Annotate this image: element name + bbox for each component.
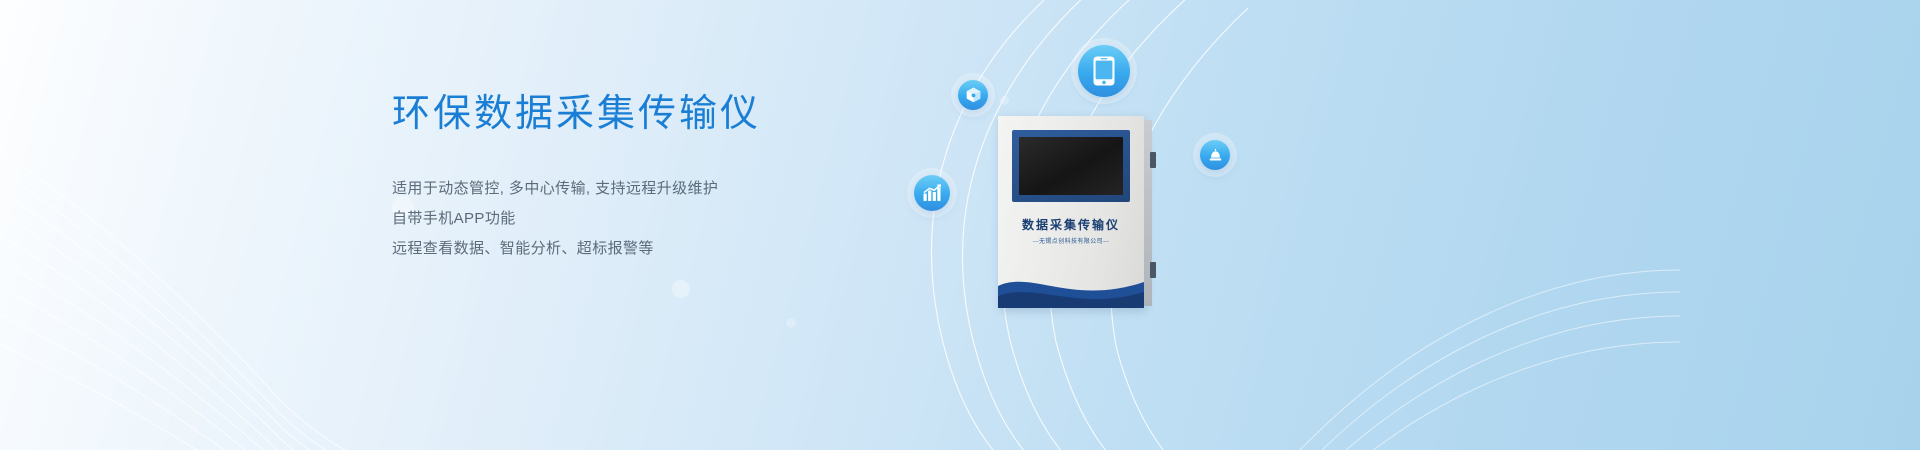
cabinet-wave-graphic bbox=[998, 266, 1144, 308]
device-brand-label: 数据采集传输仪 bbox=[998, 216, 1144, 233]
alarm-siren-icon[interactable] bbox=[1200, 140, 1230, 170]
bar-chart-glyph bbox=[923, 184, 942, 202]
cabinet-hinge-bottom bbox=[1150, 262, 1156, 278]
smartphone-glyph bbox=[1093, 56, 1115, 86]
smartphone-icon[interactable] bbox=[1078, 45, 1130, 97]
alarm-siren-glyph bbox=[1208, 148, 1223, 163]
device-screen bbox=[1019, 137, 1123, 195]
bar-chart-icon[interactable] bbox=[914, 175, 950, 211]
cabinet-side-panel bbox=[1144, 120, 1152, 306]
data-acquisition-cabinet: 数据采集传输仪 —无锡点创科技有限公司— bbox=[998, 116, 1144, 308]
bokeh-dot-3 bbox=[786, 318, 796, 328]
device-company-label: —无锡点创科技有限公司— bbox=[998, 236, 1144, 245]
subtitle-line-3: 远程查看数据、智能分析、超标报警等 bbox=[392, 234, 912, 264]
device-screen-bezel bbox=[1012, 130, 1130, 202]
hero-copy: 环保数据采集传输仪 适用于动态管控, 多中心传输, 支持远程升级维护 自带手机A… bbox=[392, 92, 912, 264]
cube-glyph bbox=[966, 87, 981, 103]
page-title: 环保数据采集传输仪 bbox=[392, 92, 912, 138]
subtitle-line-2: 自带手机APP功能 bbox=[392, 204, 912, 234]
decorative-radiating-arcs bbox=[880, 0, 1500, 450]
cube-icon[interactable] bbox=[958, 80, 988, 110]
subtitle-line-1: 适用于动态管控, 多中心传输, 支持远程升级维护 bbox=[392, 174, 912, 204]
bokeh-dot-2 bbox=[672, 280, 690, 298]
product-hero-banner: 环保数据采集传输仪 适用于动态管控, 多中心传输, 支持远程升级维护 自带手机A… bbox=[0, 0, 1920, 450]
hero-subtitle-list: 适用于动态管控, 多中心传输, 支持远程升级维护 自带手机APP功能 远程查看数… bbox=[392, 174, 912, 264]
device-illustration: 数据采集传输仪 —无锡点创科技有限公司— bbox=[880, 0, 1500, 450]
cabinet-hinge-top bbox=[1150, 152, 1156, 168]
